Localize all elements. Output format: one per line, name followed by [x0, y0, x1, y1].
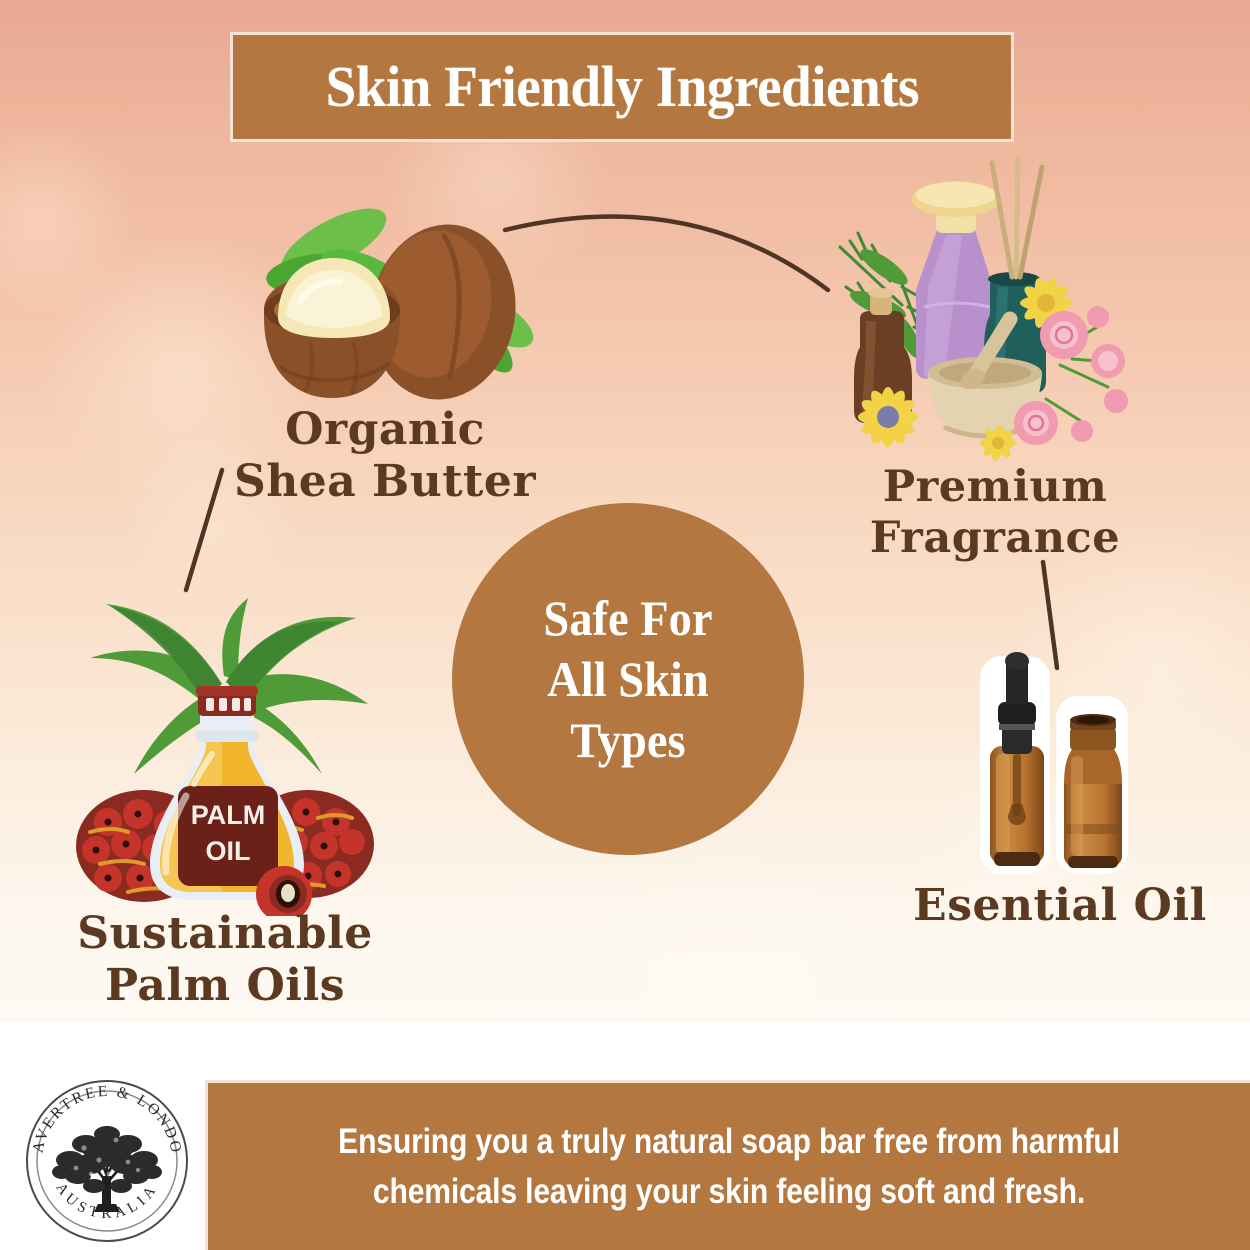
center-line-2: All Skin [543, 649, 712, 710]
fragrance-bottles-illustration [832, 155, 1132, 465]
brand-logo: WAVERTREE & LONDON AUSTRALIA [24, 1078, 190, 1244]
center-line-3: Types [543, 710, 712, 771]
feature-label-line-2: Shea Butter [215, 456, 555, 508]
palm-oil-label-line2: OIL [206, 836, 251, 866]
shea-butter-illustration [248, 192, 538, 417]
essential-oil-bottles-illustration [958, 628, 1158, 883]
feature-label-line-2: Palm Oils [30, 960, 420, 1012]
feature-label-line-2: Fragrance [845, 513, 1145, 564]
footer-banner: Ensuring you a truly natural soap bar fr… [205, 1080, 1250, 1250]
feature-label-premium-fragrance: Premium Fragrance [845, 462, 1145, 563]
infographic-poster: Skin Friendly Ingredients [0, 0, 1250, 1250]
feature-label-line-1: Sustainable [30, 908, 420, 960]
center-badge-text: Safe For All Skin Types [543, 588, 712, 771]
footer-banner-line-2: chemicals leaving your skin feeling soft… [281, 1167, 1177, 1217]
feature-label-essential-oil: Esential Oil [890, 880, 1230, 932]
palm-oil-label-line1: PALM [191, 800, 266, 830]
feature-label-line-1: Esential Oil [890, 880, 1230, 932]
feature-label-line-1: Organic [215, 404, 555, 456]
palm-oil-illustration: PALM OIL [72, 596, 382, 916]
center-line-1: Safe For [543, 588, 712, 649]
feature-label-shea-butter: Organic Shea Butter [215, 404, 555, 508]
feature-label-line-1: Premium [845, 462, 1145, 513]
connector-shea-to-fragrance [505, 217, 828, 291]
center-badge: Safe For All Skin Types [452, 503, 804, 855]
feature-label-palm-oils: Sustainable Palm Oils [30, 908, 420, 1012]
footer-banner-text: Ensuring you a truly natural soap bar fr… [281, 1117, 1177, 1216]
footer-banner-line-1: Ensuring you a truly natural soap bar fr… [281, 1117, 1177, 1167]
